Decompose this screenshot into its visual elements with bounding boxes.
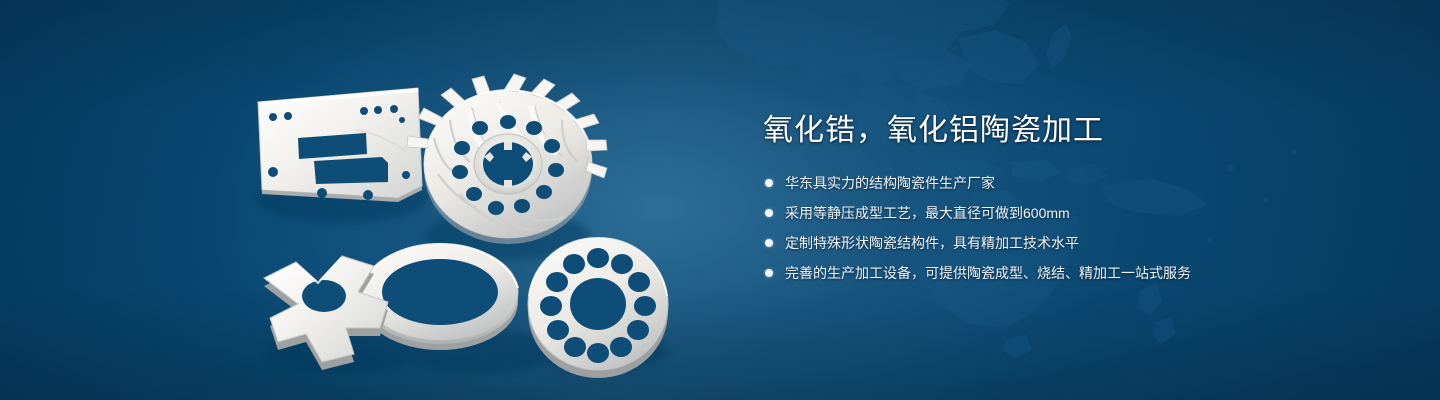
list-item: 华东具实力的结构陶瓷件生产厂家	[763, 172, 1383, 194]
bullet-dot-icon	[765, 239, 773, 247]
ceramic-perforated-disc-part	[528, 238, 668, 378]
banner-copy: 氧化锆，氧化铝陶瓷加工 华东具实力的结构陶瓷件生产厂家 采用等静压成型工艺，最大…	[763, 112, 1383, 292]
feature-list: 华东具实力的结构陶瓷件生产厂家 采用等静压成型工艺，最大直径可做到600mm 定…	[763, 172, 1383, 284]
page-title: 氧化锆，氧化铝陶瓷加工	[763, 112, 1383, 150]
product-images-group	[236, 46, 706, 376]
feature-text: 定制特殊形状陶瓷结构件，具有精加工技术水平	[785, 235, 1079, 251]
hero-banner: 氧化锆，氧化铝陶瓷加工 华东具实力的结构陶瓷件生产厂家 采用等静压成型工艺，最大…	[0, 0, 1440, 400]
bullet-dot-icon	[765, 269, 773, 277]
feature-text: 华东具实力的结构陶瓷件生产厂家	[785, 175, 995, 191]
bullet-dot-icon	[765, 209, 773, 217]
ceramic-ring-part	[362, 244, 518, 350]
list-item: 完善的生产加工设备，可提供陶瓷成型、烧结、精加工一站式服务	[763, 262, 1383, 284]
feature-text: 采用等静压成型工艺，最大直径可做到600mm	[785, 205, 1070, 221]
ceramic-plate-part	[258, 88, 422, 202]
list-item: 定制特殊形状陶瓷结构件，具有精加工技术水平	[763, 232, 1383, 254]
bullet-dot-icon	[765, 179, 773, 187]
ceramic-impeller-part	[407, 74, 607, 244]
feature-text: 完善的生产加工设备，可提供陶瓷成型、烧结、精加工一站式服务	[785, 265, 1191, 281]
list-item: 采用等静压成型工艺，最大直径可做到600mm	[763, 202, 1383, 224]
